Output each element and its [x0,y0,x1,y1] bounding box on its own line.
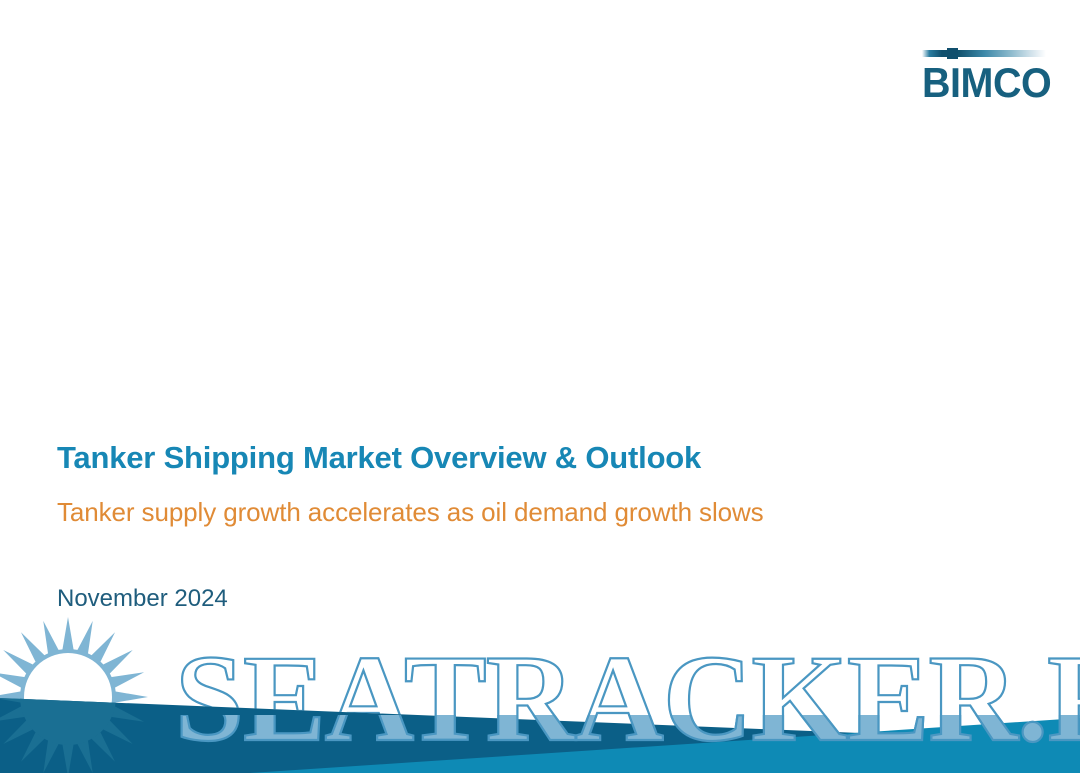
logo-dot-icon [947,48,958,59]
bimco-logo: BIMCO [922,50,1046,108]
logo-wordmark: BIMCO [922,61,1039,105]
slide-root: BIMCO Tanker Shipping Market Overview & … [0,0,1080,773]
bottom-decoration: SEATRACKER.RU [0,600,1080,773]
page-subtitle: Tanker supply growth accelerates as oil … [57,497,764,528]
logo-gradient-bar-icon [922,50,1046,57]
page-title: Tanker Shipping Market Overview & Outloo… [57,440,701,476]
bottom-artwork-svg: SEATRACKER.RU [0,600,1080,773]
